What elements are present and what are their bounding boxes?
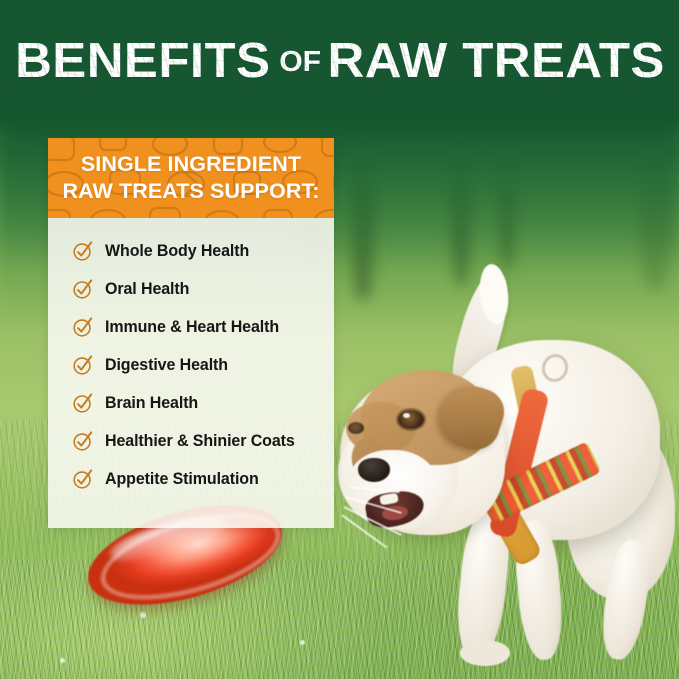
list-item-label: Healthier & Shinier Coats: [105, 432, 295, 451]
list-item: Digestive Health: [48, 346, 334, 384]
circle-check-icon: [72, 354, 94, 376]
card-header-line2: RAW TREATS SUPPORT:: [62, 178, 319, 205]
list-item: Appetite Stimulation: [48, 460, 334, 498]
list-item-label: Oral Health: [105, 280, 189, 299]
card-header: SINGLE INGREDIENT RAW TREATS SUPPORT:: [48, 138, 334, 218]
dog-nose: [358, 458, 390, 482]
list-item: Whole Body Health: [48, 232, 334, 270]
list-item: Brain Health: [48, 384, 334, 422]
card-header-text: SINGLE INGREDIENT RAW TREATS SUPPORT:: [62, 151, 319, 205]
list-item-label: Immune & Heart Health: [105, 318, 279, 337]
list-item-label: Appetite Stimulation: [105, 470, 259, 489]
list-item: Oral Health: [48, 270, 334, 308]
circle-check-icon: [72, 430, 94, 452]
circle-check-icon: [72, 392, 94, 414]
title-part2: RAW TREATS: [328, 37, 665, 86]
list-item-label: Whole Body Health: [105, 242, 249, 261]
list-item-label: Brain Health: [105, 394, 198, 413]
dog-eye: [398, 410, 424, 429]
circle-check-icon: [72, 278, 94, 300]
marketing-banner: BENEFITS OF RAW TREATS: [0, 0, 679, 679]
dog-paw: [460, 640, 510, 666]
circle-check-icon: [72, 240, 94, 262]
grass-highlight: [300, 640, 305, 645]
benefits-card: SINGLE INGREDIENT RAW TREATS SUPPORT: Wh…: [48, 138, 334, 528]
title-of: OF: [279, 48, 321, 77]
list-item: Immune & Heart Health: [48, 308, 334, 346]
circle-check-icon: [72, 316, 94, 338]
card-header-line1: SINGLE INGREDIENT: [62, 151, 319, 178]
grass-highlight: [140, 612, 146, 618]
list-item-label: Digestive Health: [105, 356, 228, 375]
circle-check-icon: [72, 468, 94, 490]
dog-eye-highlight: [403, 413, 410, 418]
dog-eye: [348, 422, 364, 434]
card-body: Whole Body Health Oral Health: [48, 218, 334, 498]
list-item: Healthier & Shinier Coats: [48, 422, 334, 460]
benefits-list: Whole Body Health Oral Health: [48, 232, 334, 498]
title-part1: BENEFITS: [16, 37, 271, 86]
grass-highlight: [60, 658, 65, 663]
dog-illustration: [330, 270, 679, 679]
page-title: BENEFITS OF RAW TREATS: [0, 37, 679, 86]
